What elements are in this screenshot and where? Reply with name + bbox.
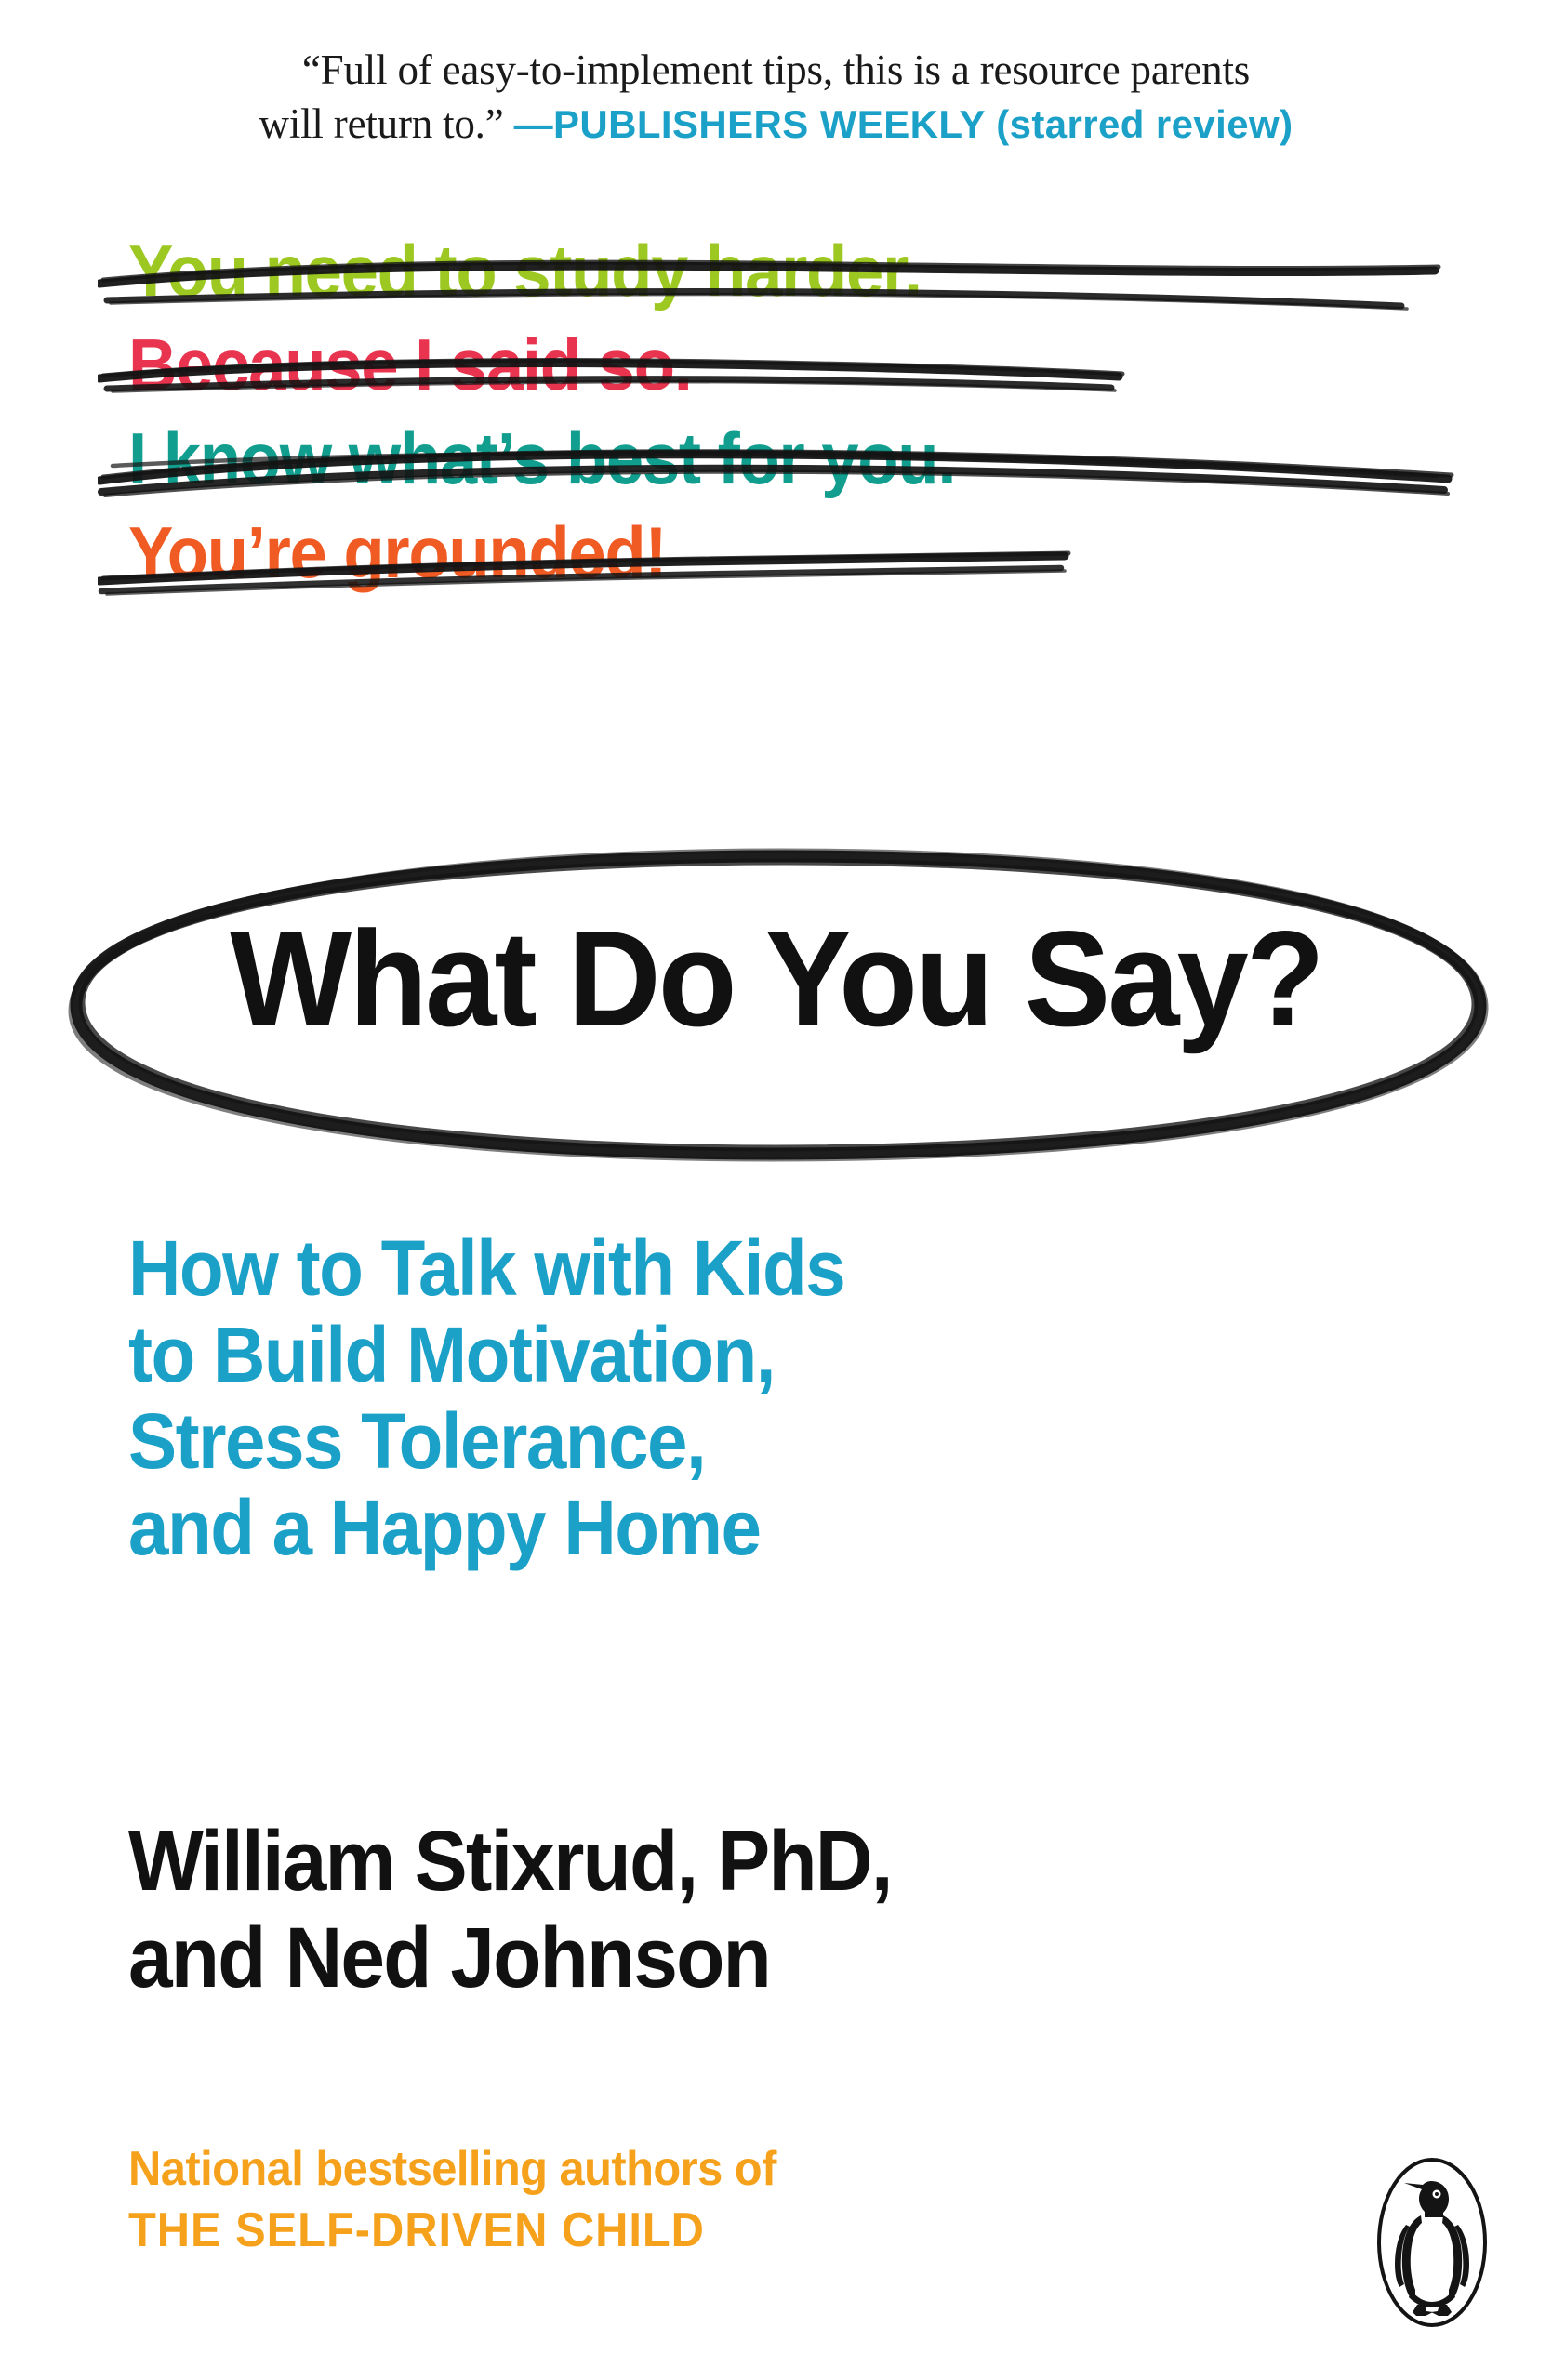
crossed-out-row: I know what’s best for you. bbox=[98, 414, 1474, 508]
crossed-out-text-2: Because I said so. bbox=[128, 320, 692, 409]
subtitle-line-4: and a Happy Home bbox=[128, 1485, 1253, 1571]
crossed-out-row: Because I said so. bbox=[98, 320, 1474, 414]
book-cover: “Full of easy-to-implement tips, this is… bbox=[0, 0, 1552, 2380]
blurb-line-2: will return to.” —PUBLISHERS WEEKLY (sta… bbox=[0, 97, 1552, 152]
crossed-out-row: You’re grounded! bbox=[98, 508, 1474, 602]
bestseller-credit-line-1: National bestselling authors of bbox=[128, 2138, 1090, 2200]
crossed-out-text-4: You’re grounded! bbox=[128, 508, 666, 597]
subtitle-line-3: Stress Tolerance, bbox=[128, 1398, 1253, 1485]
author-line-2: and Ned Johnson bbox=[128, 1910, 1253, 2006]
crossed-out-text-3: I know what’s best for you. bbox=[128, 414, 955, 503]
penguin-books-logo-icon bbox=[1363, 2150, 1501, 2334]
author-block: William Stixrud, PhD, and Ned Johnson bbox=[128, 1813, 1337, 2006]
crossed-out-row: You need to study harder. bbox=[98, 226, 1474, 320]
bestseller-credit-line-2: THE SELF-DRIVEN CHILD bbox=[128, 2200, 1090, 2261]
subtitle-block: How to Talk with Kids to Build Motivatio… bbox=[128, 1225, 1337, 1571]
crossed-out-phrases: You need to study harder. Because I said… bbox=[98, 226, 1474, 602]
subtitle-line-2: to Build Motivation, bbox=[128, 1312, 1253, 1398]
crossed-out-text-1: You need to study harder. bbox=[128, 226, 922, 315]
subtitle-line-1: How to Talk with Kids bbox=[128, 1225, 1253, 1312]
review-blurb: “Full of easy-to-implement tips, this is… bbox=[0, 43, 1552, 152]
author-line-1: William Stixrud, PhD, bbox=[128, 1813, 1253, 1910]
blurb-line-1: “Full of easy-to-implement tips, this is… bbox=[0, 43, 1552, 97]
blurb-attribution: —PUBLISHERS WEEKLY (starred review) bbox=[514, 102, 1293, 146]
blurb-quote-end: will return to.” bbox=[259, 100, 514, 147]
page-title: What Do You Say? bbox=[59, 897, 1494, 1061]
bestseller-credit: National bestselling authors of THE SELF… bbox=[128, 2138, 1151, 2261]
title-block: What Do You Say? bbox=[20, 841, 1532, 1167]
